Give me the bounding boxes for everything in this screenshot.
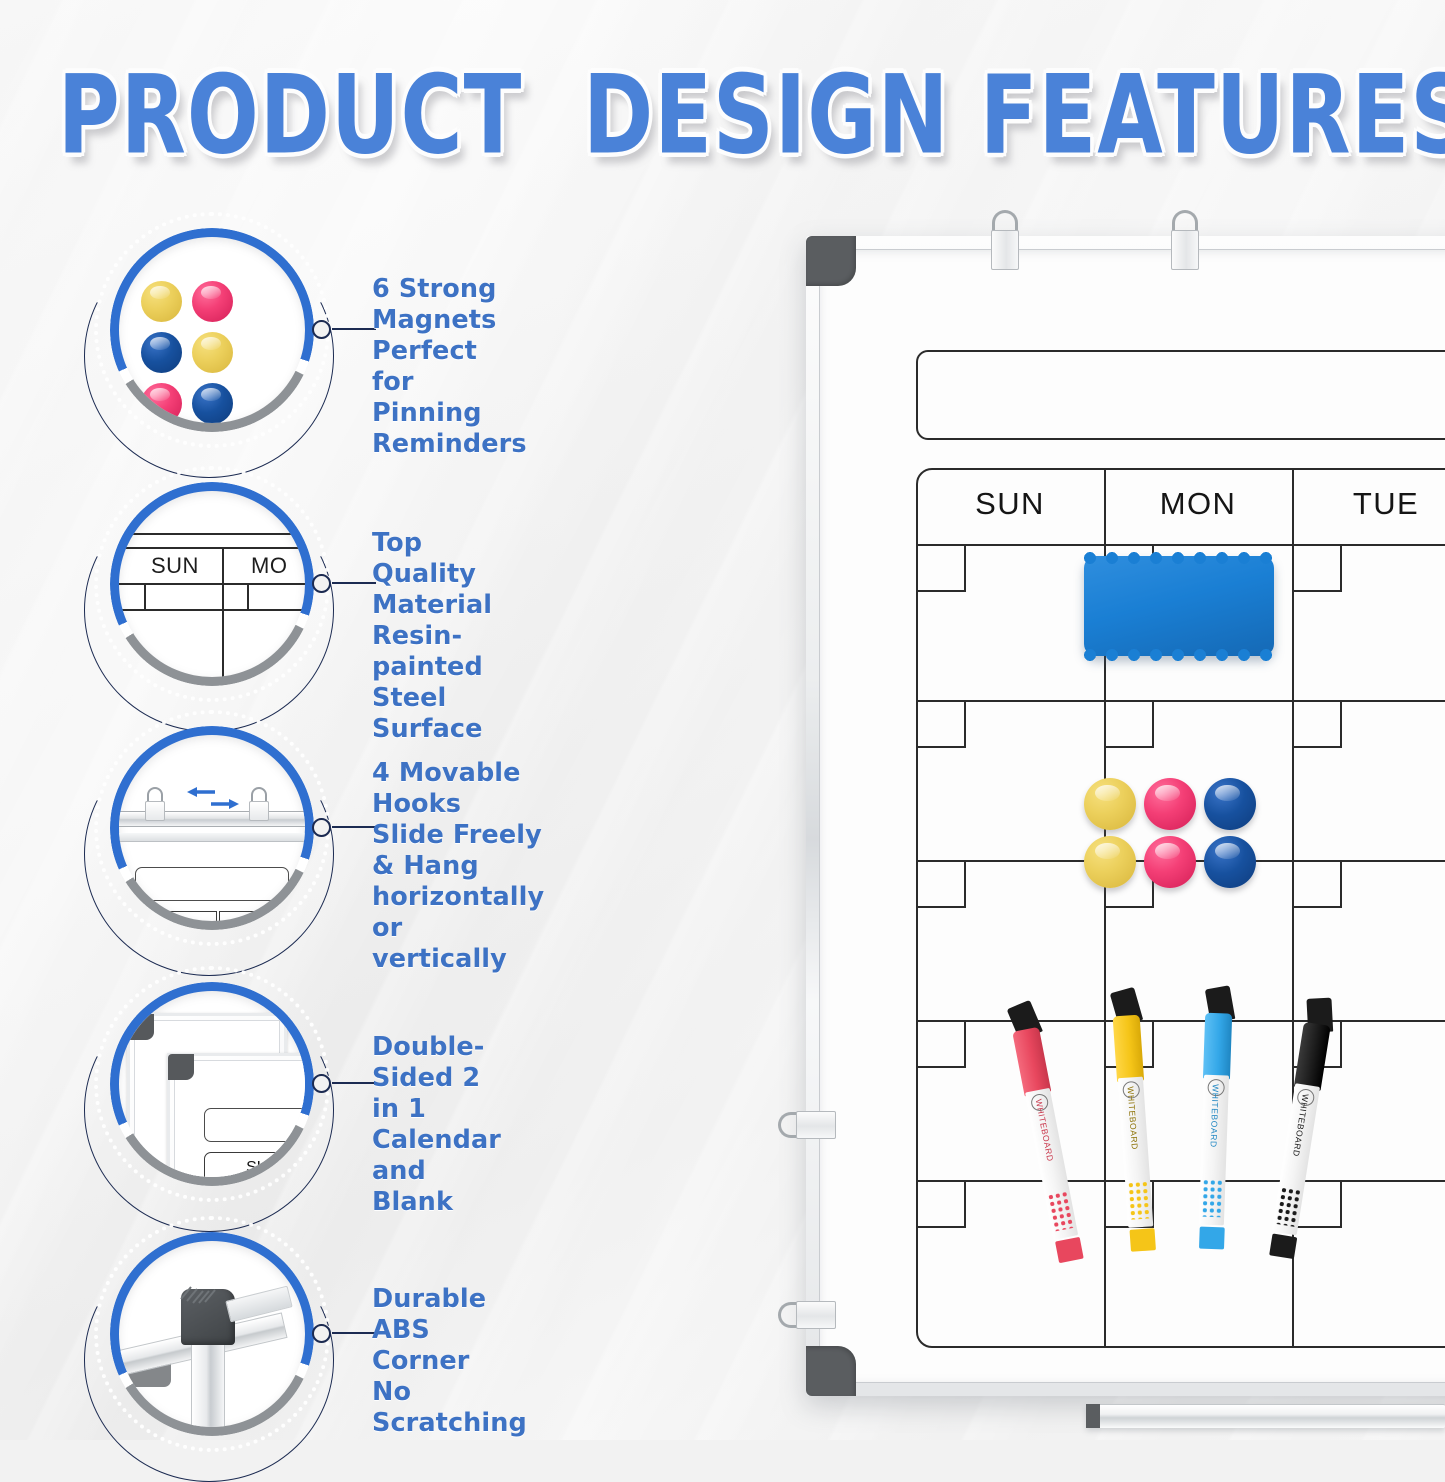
date-box	[916, 700, 966, 748]
date-box	[1292, 544, 1342, 592]
magnet-yellow	[192, 332, 233, 373]
marker-black[interactable]: WHITEBOARD	[1264, 996, 1338, 1260]
feature-label-hooks: 4 Movable Hooks Slide Freely & Hang hori…	[372, 758, 544, 975]
magnet-yellow	[141, 281, 182, 322]
magnet-pink[interactable]	[1144, 836, 1196, 888]
magnet-yellow[interactable]	[1084, 778, 1136, 830]
marker-yellow[interactable]: WHITEBOARD	[1108, 988, 1159, 1252]
magnet-blue	[192, 383, 233, 423]
marker-tray-end-cap	[1086, 1404, 1100, 1428]
magnetic-eraser[interactable]	[1084, 556, 1274, 656]
board-magnet-set[interactable]	[1084, 778, 1269, 888]
movable-hook	[143, 787, 167, 813]
date-box	[1104, 700, 1154, 748]
magnet-blue[interactable]	[1204, 836, 1256, 888]
board-front: SUN	[167, 1053, 305, 1177]
movable-hook	[247, 787, 271, 813]
abs-corner-top-left	[806, 236, 856, 286]
connector-leader	[332, 826, 376, 828]
day-label-tue: TUE	[1292, 486, 1445, 522]
magnet-pink	[192, 281, 233, 322]
closeup-label-mon: MON	[141, 911, 217, 921]
marker-body	[1294, 1022, 1331, 1091]
connector-leader	[332, 582, 376, 584]
calendar-header-box[interactable]	[916, 350, 1445, 440]
hanger-top-1[interactable]	[988, 210, 1022, 256]
marker-end	[1055, 1237, 1084, 1263]
closeup-header-box	[204, 1108, 305, 1142]
date-box	[1292, 700, 1342, 748]
magnet-pink	[141, 383, 182, 423]
figure-surface-closeup: SUN MO	[88, 462, 336, 710]
date-box	[916, 1180, 966, 1228]
feature-label-double-sided: Double-Sided 2 in 1 Calendar and Blank	[372, 1032, 501, 1218]
connector-node	[312, 1074, 331, 1093]
figure-hooks-closeup: MON TUE	[88, 706, 336, 954]
magnet-yellow[interactable]	[1084, 836, 1136, 888]
hanger-left-2[interactable]	[778, 1298, 826, 1332]
abs-corner-icon	[168, 1054, 194, 1080]
abs-corner-bottom-left	[806, 1346, 856, 1396]
marker-blue[interactable]: WHITEBOARD	[1194, 987, 1236, 1250]
marker-end	[1269, 1233, 1297, 1259]
closeup-label-sun: SUN	[151, 553, 199, 579]
date-box	[916, 860, 966, 908]
figure-abs-corner	[88, 1212, 336, 1460]
figure-disc	[119, 1241, 305, 1427]
figure-disc: SUN	[119, 991, 305, 1177]
feature-label-material: Top Quality Material Resin-painted Steel…	[372, 528, 492, 745]
marker-body	[1113, 1015, 1145, 1083]
figure-disc: MON TUE	[119, 735, 305, 921]
screws-icon	[177, 1281, 237, 1311]
hanger-top-2[interactable]	[1168, 210, 1202, 256]
date-box	[916, 1020, 966, 1068]
connector-leader	[332, 328, 376, 330]
connector-node	[312, 574, 331, 593]
slide-arrows-icon	[185, 785, 241, 811]
marker-body	[1203, 1013, 1232, 1080]
marker-set[interactable]: WHITEBOARD WHITEBOARD WHITEBOARD WHITEBO…	[1052, 985, 1332, 1275]
page-title: PRODUCT DESIGN FEATURES	[58, 52, 1387, 178]
magnet-grid	[141, 281, 283, 423]
connector-node	[312, 320, 331, 339]
marker-end	[1129, 1228, 1155, 1252]
magnet-pink[interactable]	[1144, 778, 1196, 830]
grid-row-divider	[916, 700, 1445, 702]
connector-node	[312, 1324, 331, 1343]
closeup-header-box	[135, 867, 289, 901]
day-label-mon: MON	[1104, 486, 1292, 522]
closeup-label-tue: TUE	[219, 911, 295, 921]
figure-six-magnets	[88, 208, 336, 456]
figure-disc	[119, 237, 305, 423]
board-top-rail-2	[119, 833, 305, 842]
hanger-left-1[interactable]	[778, 1108, 826, 1142]
marker-tray	[1086, 1404, 1445, 1428]
connector-leader	[332, 1332, 376, 1334]
magnet-blue	[141, 332, 182, 373]
feature-label-abs-corner: Durable ABS Corner No Scratching	[372, 1284, 527, 1439]
connector-leader	[332, 1082, 376, 1084]
date-box	[916, 544, 966, 592]
closeup-label-sun: SUN	[204, 1152, 305, 1177]
closeup-label-mon: MO	[251, 553, 287, 579]
connector-node	[312, 818, 331, 837]
calendar-closeup: SUN MO	[119, 491, 305, 677]
abs-corner-icon	[128, 1014, 154, 1040]
marker-end	[1199, 1227, 1225, 1250]
date-box	[1292, 860, 1342, 908]
grid-row-divider	[916, 544, 1445, 546]
figure-disc: SUN MO	[119, 491, 305, 677]
magnet-blue[interactable]	[1204, 778, 1256, 830]
feature-label-magnets: 6 Strong Magnets Perfect for Pinning Rem…	[372, 274, 527, 460]
marker-grip-dots	[1127, 1180, 1152, 1219]
day-label-sun: SUN	[916, 486, 1104, 522]
figure-two-boards: SUN	[88, 962, 336, 1210]
marker-grip-dots	[1201, 1179, 1224, 1218]
